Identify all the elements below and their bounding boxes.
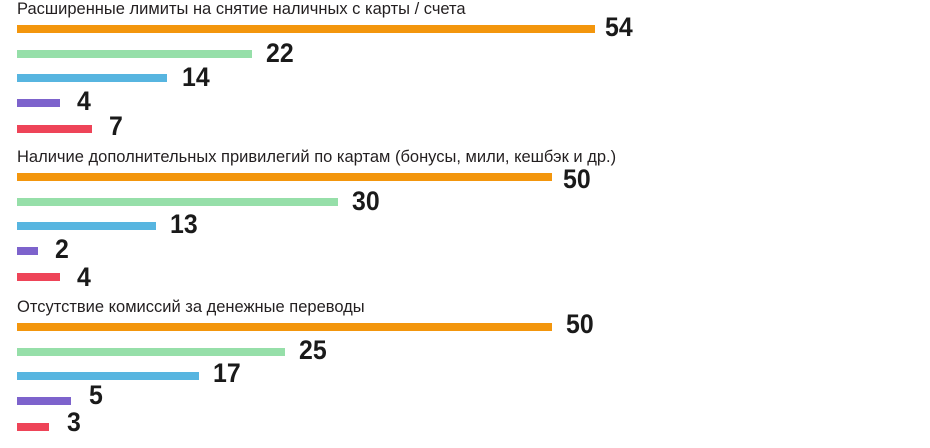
group-title: Расширенные лимиты на снятие наличных с … xyxy=(17,0,466,19)
bar xyxy=(17,372,199,380)
bar xyxy=(17,423,49,431)
bar xyxy=(17,348,285,356)
bar xyxy=(17,25,595,33)
bar xyxy=(17,222,156,230)
bar-value-label: 13 xyxy=(170,211,198,238)
bar-value-label: 30 xyxy=(352,188,380,215)
bar xyxy=(17,323,552,331)
bar-value-label: 50 xyxy=(563,166,591,193)
bar xyxy=(17,50,252,58)
bar xyxy=(17,397,71,405)
bar-value-label: 2 xyxy=(55,236,69,263)
bar-value-label: 54 xyxy=(605,14,633,41)
bar xyxy=(17,173,552,181)
bar xyxy=(17,74,167,82)
bar-value-label: 3 xyxy=(67,409,81,436)
bar-value-label: 4 xyxy=(77,264,91,291)
bar-value-label: 17 xyxy=(213,360,241,387)
bar-value-label: 4 xyxy=(77,88,91,115)
bar xyxy=(17,99,60,107)
grouped-bar-chart: Расширенные лимиты на снятие наличных с … xyxy=(0,0,930,448)
bar-value-label: 22 xyxy=(266,40,294,67)
bar xyxy=(17,198,338,206)
group-title: Наличие дополнительных привилегий по кар… xyxy=(17,148,616,167)
bar xyxy=(17,125,92,133)
bar-value-label: 5 xyxy=(89,382,103,409)
bar-value-label: 25 xyxy=(299,337,327,364)
bar xyxy=(17,247,38,255)
bar xyxy=(17,273,60,281)
group-title: Отсутствие комиссий за денежные переводы xyxy=(17,298,365,317)
bar-value-label: 7 xyxy=(109,113,123,140)
bar-value-label: 50 xyxy=(566,311,594,338)
bar-value-label: 14 xyxy=(182,64,210,91)
